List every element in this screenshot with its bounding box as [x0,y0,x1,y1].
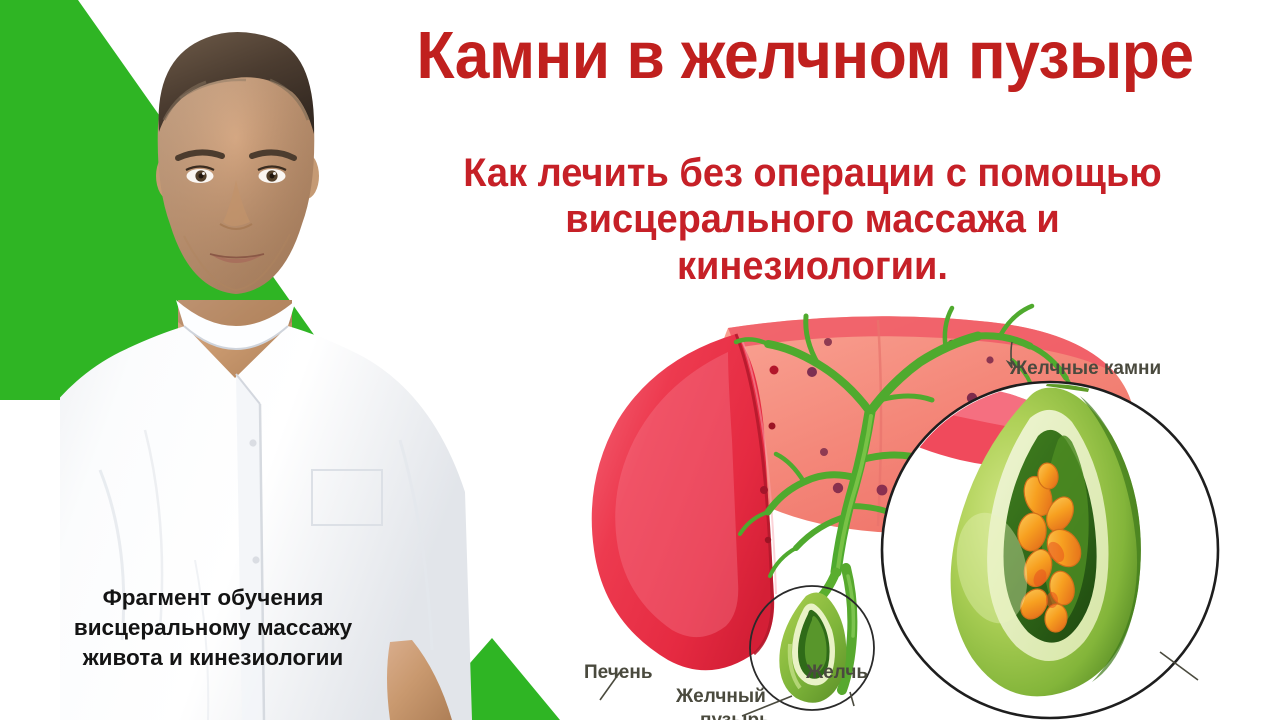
presentation-slide: Камни в желчном пузыре Как лечить без оп… [0,0,1280,720]
slide-title: Камни в желчном пузыре [377,22,1233,90]
caption-line-1: Фрагмент обучения [28,583,398,613]
label-gallbladder-line2: пузырь [700,710,771,720]
subtitle-line-3: кинезиологии. [368,243,1256,289]
subtitle-line-2: висцерального массажа и [368,196,1256,242]
caption-line-2: висцеральному массажу [28,613,398,643]
label-bile: Желчь [806,662,868,684]
subtitle-line-1: Как лечить без операции с помощью [368,150,1256,196]
slide-caption: Фрагмент обучения висцеральному массажу … [28,583,398,673]
label-liver: Печень [584,662,653,684]
caption-line-3: живота и кинезиологии [28,643,398,673]
slide-subtitle: Как лечить без операции с помощью висцер… [368,150,1256,289]
label-gallstones: Желчные камни [1010,358,1161,380]
liver-gallbladder-illustration [560,300,1280,720]
label-gallbladder-line1: Желчный [676,686,766,708]
